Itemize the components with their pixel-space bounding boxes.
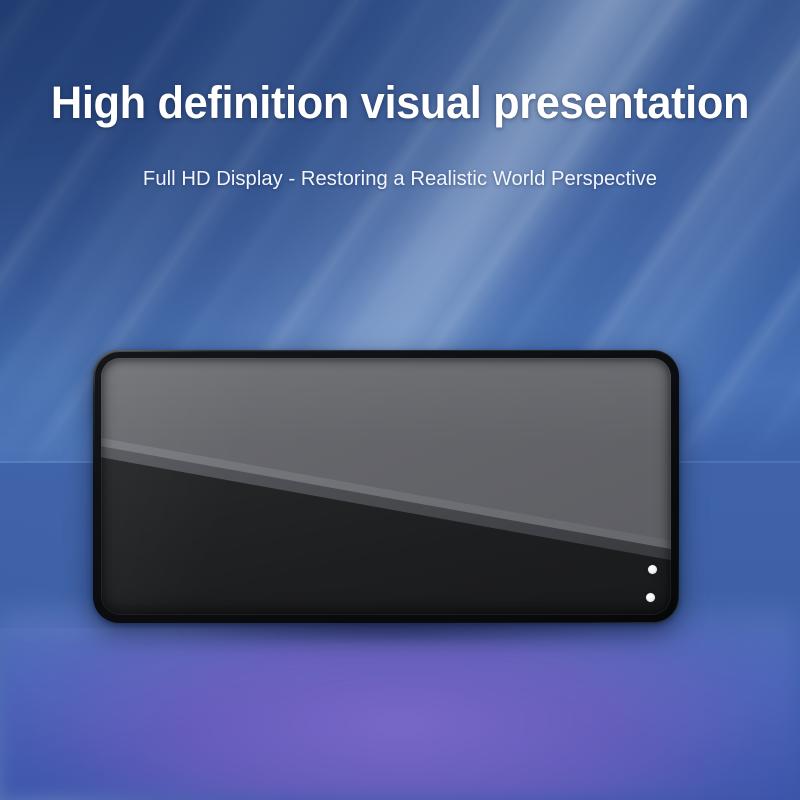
smartphone-device (93, 350, 679, 623)
camera-punch-hole-icon (648, 565, 657, 574)
screen-inner-shadow (101, 358, 671, 615)
subtitle-text: Full HD Display - Restoring a Realistic … (6, 166, 794, 192)
background-bottom-light-wedges (0, 610, 800, 800)
product-banner: High definition visual presentation Full… (0, 0, 800, 800)
camera-punch-hole-icon (646, 593, 655, 602)
headline-text: High definition visual presentation (14, 78, 786, 128)
device-screen (101, 358, 671, 615)
background-bottom-reflection (0, 600, 800, 800)
